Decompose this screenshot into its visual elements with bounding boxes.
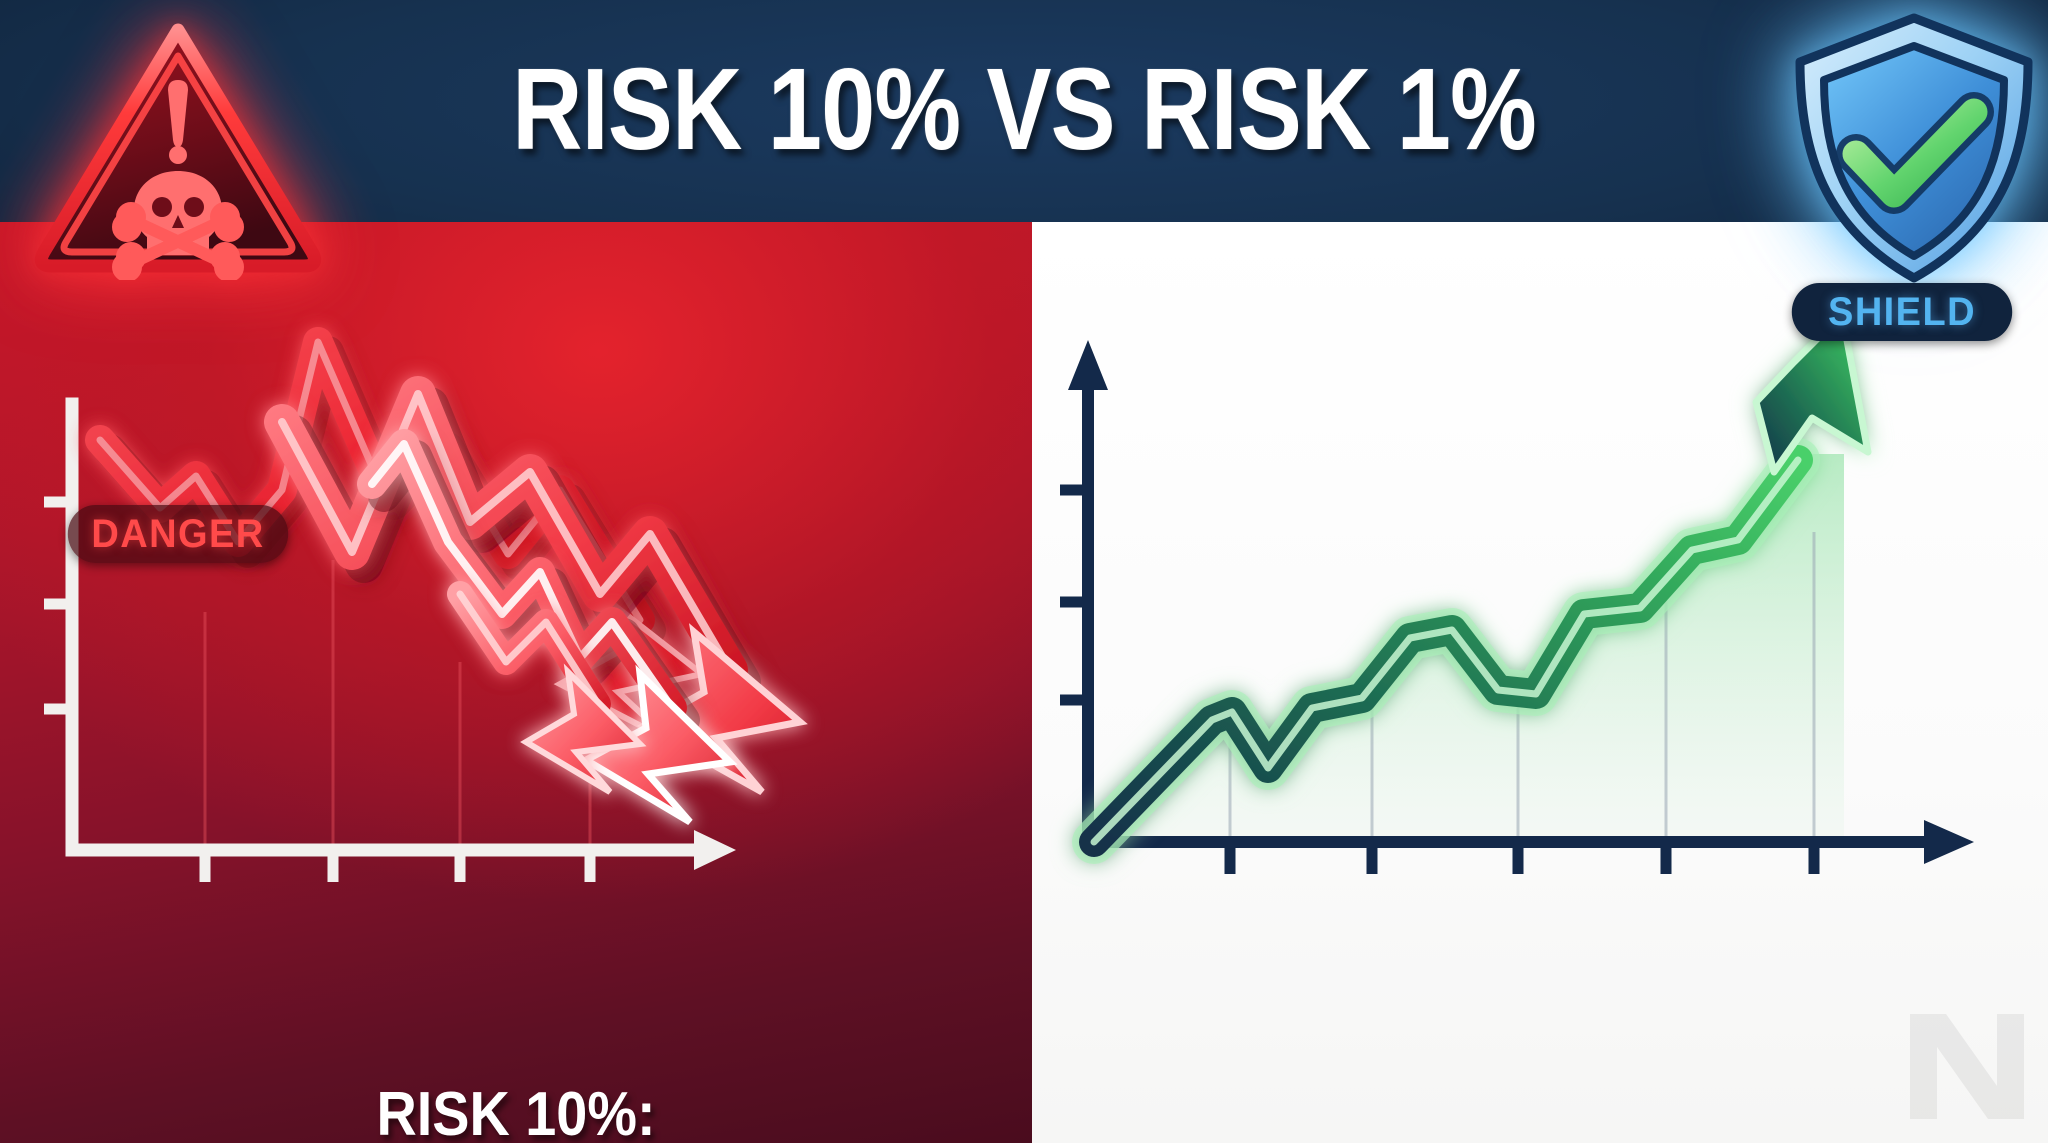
left-caption: RISK 10%: HIGH VOLATILITY & POTENTIAL LO… <box>52 1082 981 1143</box>
growth-chart <box>1032 222 2048 1143</box>
warning-triangle-skull-icon <box>28 8 328 280</box>
shield-check-icon <box>1778 2 2048 292</box>
infographic-root: RISK 10% VS RISK 1% <box>0 0 2048 1143</box>
danger-badge: DANGER <box>68 505 288 563</box>
left-caption-line1: RISK 10%: <box>52 1082 981 1143</box>
declining-chart <box>0 222 1032 1143</box>
shield-badge: SHIELD <box>1792 283 2012 341</box>
right-panel-risk1: RISK 1%: STEADY GROWTH & & CAPITAL PRESE… <box>1032 222 2048 1143</box>
page-title: RISK 10% VS RISK 1% <box>164 0 1884 222</box>
left-panel-risk10: DANGER RISK 10%: HIGH VOLATILITY & POTEN… <box>0 222 1032 1143</box>
